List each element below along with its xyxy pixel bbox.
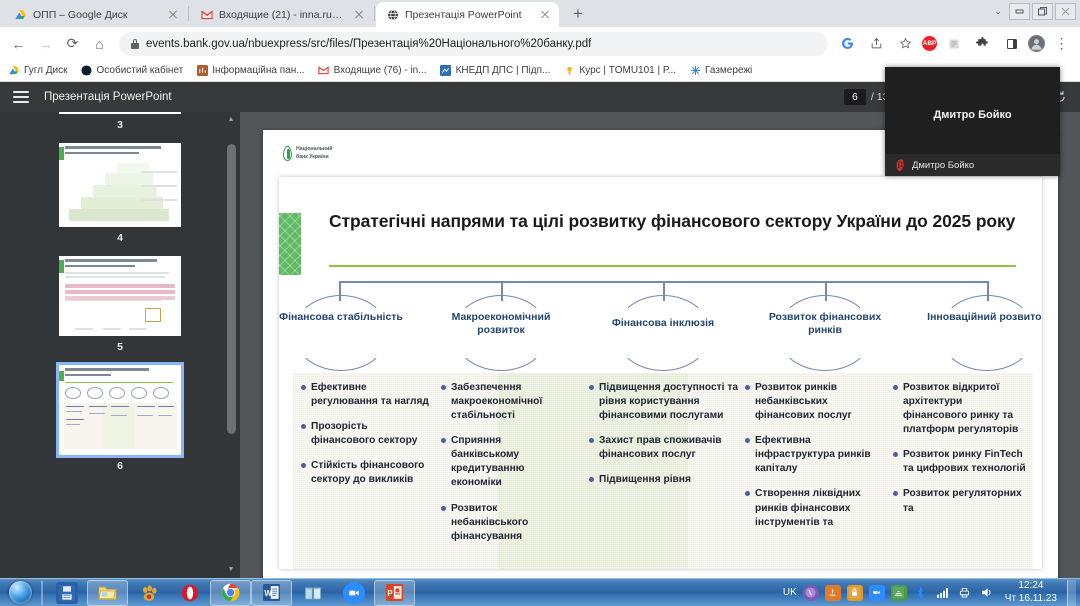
volume-icon[interactable] (979, 585, 995, 601)
bullet-item: Сприяння банківському кредитуванню еконо… (441, 434, 553, 490)
bullet-dot-icon (745, 385, 750, 390)
bullet-item: Стійкість фінансового сектору до викликі… (301, 459, 433, 487)
bookmark-item[interactable]: Особистий кабінет (81, 65, 184, 77)
bullet-dot-icon (589, 385, 594, 390)
bullet-text: Підвищення рівня (599, 473, 691, 487)
address-bar[interactable]: events.bank.gov.ua/nbuexpress/src/files/… (119, 32, 828, 56)
objectives-column-1: Забезпечення макроекономічної стабільнос… (441, 381, 553, 555)
sidebar-scrollbar[interactable]: ▲ ▼ (227, 112, 238, 578)
svg-text:W: W (264, 589, 272, 598)
signature-icon (440, 65, 452, 77)
gas-icon (689, 65, 701, 77)
slide-title: Стратегічні напрями та цілі розвитку фін… (329, 210, 1019, 233)
bookmark-label: Курс | TOMU101 | Р... (579, 65, 676, 76)
bookmark-item[interactable]: Входящие (76) - in... (318, 65, 427, 77)
utility-icon[interactable] (825, 585, 841, 601)
objectives-column-4: Розвиток відкритої архітектури фінансово… (893, 381, 1027, 527)
bullet-dot-icon (589, 438, 594, 443)
printer-icon[interactable] (957, 585, 973, 601)
globe-icon (386, 8, 399, 21)
tab-divider (188, 6, 189, 21)
bullet-dot-icon (745, 491, 750, 496)
close-button[interactable] (1055, 3, 1076, 20)
thumbnail-number: 4 (117, 232, 123, 244)
opera-icon (179, 582, 201, 604)
scroll-down-icon[interactable]: ▼ (227, 566, 235, 574)
cabinet-icon (81, 65, 93, 77)
bullet-text: Захист прав споживачів фінансових послуг (599, 434, 739, 462)
show-desktop-button[interactable] (1067, 580, 1076, 606)
tab-divider (374, 6, 375, 21)
direction-label-2: Фінансова інклюзія (597, 317, 729, 330)
bullet-text: Підвищення доступності та рівня користув… (599, 381, 739, 423)
bullet-dot-icon (441, 438, 446, 443)
bullet-dot-icon (441, 385, 446, 390)
taskbar-opera-browser[interactable] (169, 580, 210, 606)
explorer-folder-icon (97, 582, 119, 604)
bullet-item: Розвиток небанківського фінансування (441, 502, 553, 544)
tab-title: Входящие (21) - inna.rud.97@gm (219, 9, 347, 21)
reader-icon[interactable] (941, 31, 966, 56)
bullet-text: Розвиток регуляторних та (903, 487, 1027, 515)
bullet-item: Ефективне регулювання та нагляд (301, 381, 433, 409)
extensions-icon[interactable] (970, 31, 995, 56)
word-icon: W (261, 582, 283, 604)
nbu-logo-text: Національний банк України (296, 146, 332, 160)
profile-avatar-icon[interactable] (1028, 35, 1045, 52)
bookmark-item[interactable]: КНЕДП ДПС | Підп... (440, 65, 551, 77)
maximize-button[interactable] (1032, 3, 1053, 20)
windows-start-orb[interactable] (2, 580, 38, 606)
bullet-item: Розвиток ринку FinTech та цифрових техно… (893, 448, 1027, 476)
bullet-item: Прозорість фінансового сектору (301, 420, 433, 448)
clock-time: 12:24 (1018, 580, 1043, 591)
adblock-icon[interactable]: ABP (922, 36, 937, 51)
signal-icon[interactable] (935, 585, 951, 601)
thumbnail-number: 3 (117, 119, 123, 131)
bullet-dot-icon (301, 424, 306, 429)
nbu-emblem-icon (283, 146, 292, 161)
close-icon[interactable] (353, 9, 365, 21)
thumbnail-page-6[interactable] (59, 365, 181, 455)
browser-toolbar: ← → ⟳ ⌂ events.bank.gov.ua/nbuexpress/sr… (0, 27, 1080, 60)
bullet-dot-icon (301, 463, 306, 468)
taskbar-microsoft-word[interactable]: W (251, 580, 292, 606)
bullet-text: Забезпечення макроекономічної стабільнос… (451, 381, 553, 423)
bullet-dot-icon (441, 506, 446, 511)
reload-icon[interactable]: ⟳ (60, 31, 85, 56)
bookmark-label: Особистий кабінет (97, 65, 184, 76)
bullet-item: Забезпечення макроекономічної стабільнос… (441, 381, 553, 423)
participant-strip: 🎙 Дмитро Бойко (885, 154, 1060, 176)
chrome-icon (220, 582, 242, 604)
slide-content-card: Стратегічні напрями та цілі розвитку фін… (279, 177, 1042, 569)
direction-label-0: Фінансова стабільність (279, 311, 407, 324)
pdf-thumbnail-sidebar[interactable]: 3 (0, 112, 240, 578)
close-icon[interactable] (167, 9, 179, 21)
bullet-text: Розвиток ринків небанківських фінансових… (755, 381, 885, 423)
bookmark-star-icon[interactable] (893, 31, 918, 56)
bookmark-label: Газмережі (705, 65, 752, 76)
bullet-dot-icon (301, 385, 306, 390)
taskbar-reader-app[interactable] (292, 580, 333, 606)
system-tray: UK (783, 580, 1080, 606)
slide-accent (59, 260, 64, 273)
direction-label-4: Інноваційний розвиток (921, 311, 1042, 324)
zoom-icon (343, 582, 365, 604)
screen: ОПП – Google Диск Входящие (21) - inna.r… (0, 0, 1080, 606)
bullet-item: Розвиток ринків небанківських фінансових… (745, 381, 885, 423)
bullet-text: Розвиток ринку FinTech та цифрових техно… (903, 448, 1027, 476)
security-icon[interactable] (847, 585, 863, 601)
close-icon[interactable] (539, 9, 551, 21)
pdf-page: Національний банк України Стратегічні на… (263, 130, 1058, 578)
taskbar-paw-app[interactable] (128, 580, 169, 606)
bullet-item: Підвищення доступності та рівня користув… (589, 381, 739, 423)
direction-label-3: Розвиток фінансових ринків (759, 311, 891, 338)
minimize-button[interactable] (1009, 3, 1030, 20)
taskbar-save-app[interactable] (46, 580, 87, 606)
divider (41, 581, 43, 605)
gmail-icon (318, 65, 330, 77)
clock-date: Чт 16.11.23 (1005, 593, 1057, 604)
course-icon (563, 65, 575, 77)
thumbnail-page-4[interactable] (59, 143, 181, 227)
powerpoint-icon: P (384, 582, 406, 604)
toolbar-extensions: ABP ⋮ (835, 31, 1074, 56)
bookmark-item[interactable]: Гугл Диск (8, 65, 68, 77)
bullet-dot-icon (745, 438, 750, 443)
browser-tab-2[interactable]: Презентація PowerPoint (376, 2, 559, 27)
bookmark-label: Інформаційна пан... (212, 65, 304, 76)
google-lens-icon[interactable] (835, 31, 860, 56)
logo-line-1: Національний (296, 146, 332, 152)
bluetooth-icon[interactable] (913, 585, 929, 601)
pdf-body: 3 (0, 112, 1080, 578)
bookmark-item[interactable]: Інформаційна пан... (196, 65, 304, 77)
paw-app-icon (138, 582, 160, 604)
dashboard-icon (196, 65, 208, 77)
window-controls: ⌄ (989, 2, 1076, 20)
home-icon[interactable]: ⌂ (87, 31, 112, 56)
viber-icon[interactable] (803, 585, 819, 601)
new-tab-button[interactable]: + (565, 1, 591, 27)
book-icon (302, 582, 324, 604)
direction-ellipse-2 (615, 295, 711, 371)
url-text: events.bank.gov.ua/nbuexpress/src/files/… (146, 38, 591, 50)
bullet-text: Розвиток відкритої архітектури фінансово… (903, 381, 1027, 437)
bullet-text: Ефективна інфраструктура ринків капіталу (755, 434, 885, 476)
page-number-input[interactable]: 6 (844, 89, 866, 105)
tab-title: ОПП – Google Диск (33, 9, 161, 21)
bullet-item: Ефективна інфраструктура ринків капіталу (745, 434, 885, 476)
video-conference-overlay[interactable]: Дмитро Бойко 🎙 Дмитро Бойко (885, 67, 1060, 176)
nbu-logo: Національний банк України (283, 146, 332, 161)
hamburger-icon[interactable] (10, 86, 32, 108)
lock-icon (131, 39, 139, 49)
bookmark-label: КНЕДП ДПС | Підп... (456, 65, 551, 76)
chevron-down-icon[interactable]: ⌄ (989, 2, 1007, 20)
bullet-text: Прозорість фінансового сектору (311, 420, 433, 448)
bullet-item: Створення ліквідних ринків фінансових ін… (745, 487, 885, 529)
bookmark-label: Гугл Диск (24, 65, 68, 76)
sidepanel-icon[interactable] (999, 31, 1024, 56)
thumbnail-page-5[interactable] (59, 256, 181, 336)
svg-text:P: P (387, 589, 392, 598)
green-accent-block (279, 213, 301, 275)
language-indicator[interactable]: UK (783, 587, 797, 598)
taskbar-clock[interactable]: 12:24 Чт 16.11.23 (1005, 580, 1057, 605)
bullet-text: Стійкість фінансового сектору до викликі… (311, 459, 433, 487)
scrollbar-thumb[interactable] (227, 144, 236, 434)
tab-strip: ОПП – Google Диск Входящие (21) - inna.r… (0, 0, 1080, 27)
objectives-band: Ефективне регулювання та нагляд Прозоріс… (293, 373, 1033, 569)
bullet-item: Розвиток регуляторних та (893, 487, 1027, 515)
taskbar-zoom-app[interactable] (333, 580, 374, 606)
objectives-column-2: Підвищення доступності та рівня користув… (589, 381, 739, 498)
bullet-item: Підвищення рівня (589, 473, 739, 487)
scroll-up-icon[interactable]: ▲ (227, 116, 235, 124)
back-icon[interactable]: ← (6, 31, 31, 56)
taskbar-file-explorer[interactable] (87, 580, 128, 606)
thumbnail-page-3[interactable] (59, 112, 181, 114)
pdf-page-view[interactable]: Національний банк України Стратегічні на… (240, 112, 1080, 578)
thumbnail-number: 6 (117, 460, 123, 472)
bullet-dot-icon (893, 452, 898, 457)
bullet-dot-icon (893, 385, 898, 390)
bullet-text: Ефективне регулювання та нагляд (311, 381, 433, 409)
taskbar-google-chrome[interactable] (210, 580, 251, 606)
share-icon[interactable] (864, 31, 889, 56)
browser-tab-1[interactable]: Входящие (21) - inna.rud.97@gm (190, 2, 373, 27)
bullet-text: Створення ліквідних ринків фінансових ін… (755, 487, 885, 529)
windows-taskbar: W P UK (0, 578, 1080, 606)
participant-name: Дмитро Бойко (885, 109, 1060, 121)
network-tray-icon[interactable] (891, 585, 907, 601)
logo-line-2: банк України (296, 154, 329, 160)
drive-icon (14, 8, 27, 21)
bullet-dot-icon (893, 491, 898, 496)
direction-ellipse-4 (939, 295, 1035, 371)
tab-title: Презентація PowerPoint (405, 9, 533, 21)
participant-strip-name: Дмитро Бойко (912, 160, 974, 171)
thumbnail-number: 5 (117, 341, 123, 353)
slide-accent (59, 147, 64, 160)
strategy-diagram: Фінансова стабільність Макроекономічний … (293, 281, 1033, 373)
bullet-dot-icon (589, 477, 594, 482)
bullet-text: Сприяння банківському кредитуванню еконо… (451, 434, 553, 490)
bullet-item: Розвиток відкритої архітектури фінансово… (893, 381, 1027, 437)
objectives-column-3: Розвиток ринків небанківських фінансових… (745, 381, 885, 541)
gmail-icon (200, 8, 213, 21)
browser-tab-0[interactable]: ОПП – Google Диск (4, 2, 187, 27)
forward-icon[interactable]: → (33, 31, 58, 56)
taskbar-microsoft-powerpoint[interactable]: P (374, 580, 415, 606)
pdf-document-title: Презентація PowerPoint (44, 91, 172, 103)
mic-muted-icon[interactable]: 🎙 (892, 159, 906, 172)
direction-ellipse-0 (293, 295, 389, 371)
title-underline (329, 265, 1016, 267)
bookmark-item[interactable]: Газмережі (689, 65, 752, 77)
bullet-text: Розвиток небанківського фінансування (451, 502, 553, 544)
zoom-tray-icon[interactable] (869, 585, 885, 601)
thumbnail-list: 3 (0, 112, 240, 478)
bookmark-item[interactable]: Курс | TOMU101 | Р... (563, 65, 676, 77)
direction-label-1: Макроекономічний розвиток (435, 311, 567, 338)
chrome-menu-icon[interactable]: ⋮ (1049, 31, 1074, 56)
drive-icon (8, 65, 20, 77)
objectives-column-0: Ефективне регулювання та нагляд Прозоріс… (301, 381, 433, 498)
bullet-item: Захист прав споживачів фінансових послуг (589, 434, 739, 462)
bookmark-label: Входящие (76) - in... (334, 65, 427, 76)
floppy-save-icon (56, 582, 78, 604)
